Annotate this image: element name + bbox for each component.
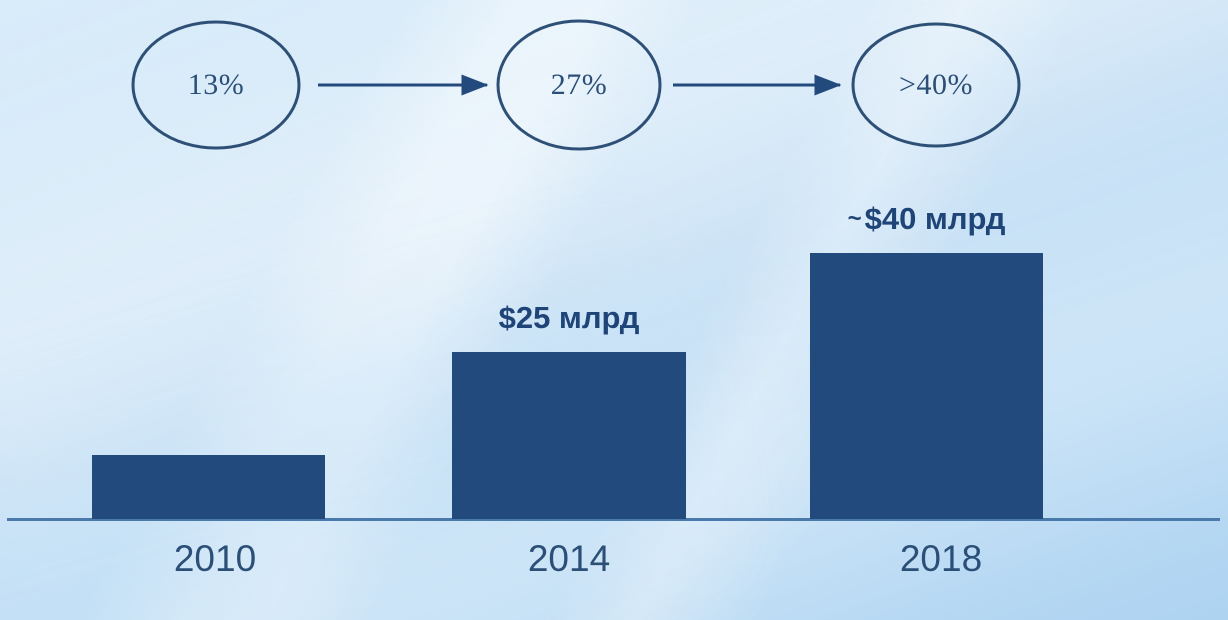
bar-2014 [452,352,686,519]
bar-value-label-2014: $25 млрд [452,300,686,336]
bar-value-label-2018: ~$40 млрд [800,201,1053,237]
bar-2018 [810,253,1043,519]
funnel-step-2-value: 27% [519,68,639,102]
funnel-step-1-value: 13% [156,68,276,102]
category-label-2010: 2010 [115,538,315,580]
bar-value-label-2018-text: $40 млрд [865,201,1006,236]
bar-2010 [92,455,325,519]
slide-canvas: 13% 27% >40% $25 млрд ~$40 млрд 2010 201… [0,0,1228,620]
category-label-2014: 2014 [469,538,669,580]
category-label-2018: 2018 [841,538,1041,580]
funnel-step-3-value: >40% [876,68,996,102]
approx-symbol: ~ [848,205,862,232]
